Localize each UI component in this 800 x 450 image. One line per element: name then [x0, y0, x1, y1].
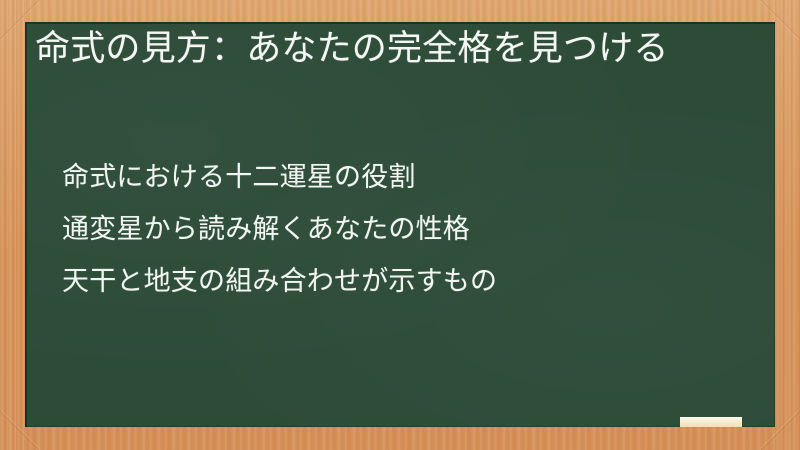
page-title: 命式の見方：あなたの完全格を見つける	[35, 28, 745, 71]
topic-list: 命式における十二運星の役割 通変星から読み解くあなたの性格 天干と地支の組み合わ…	[62, 152, 752, 308]
list-item: 天干と地支の組み合わせが示すもの	[62, 256, 752, 308]
list-item: 通変星から読み解くあなたの性格	[62, 204, 752, 256]
frame-right-rail-grain	[775, 0, 800, 450]
chalk-stick-icon	[680, 417, 742, 427]
frame-left-rail-grain	[0, 0, 25, 450]
chalkboard-surface: 命式の見方：あなたの完全格を見つける 命式における十二運星の役割 通変星から読み…	[25, 22, 775, 427]
chalkboard-content: 命式の見方：あなたの完全格を見つける 命式における十二運星の役割 通変星から読み…	[30, 22, 775, 427]
blackboard-wooden-frame: 命式の見方：あなたの完全格を見つける 命式における十二運星の役割 通変星から読み…	[0, 0, 800, 450]
list-item: 命式における十二運星の役割	[62, 152, 752, 204]
